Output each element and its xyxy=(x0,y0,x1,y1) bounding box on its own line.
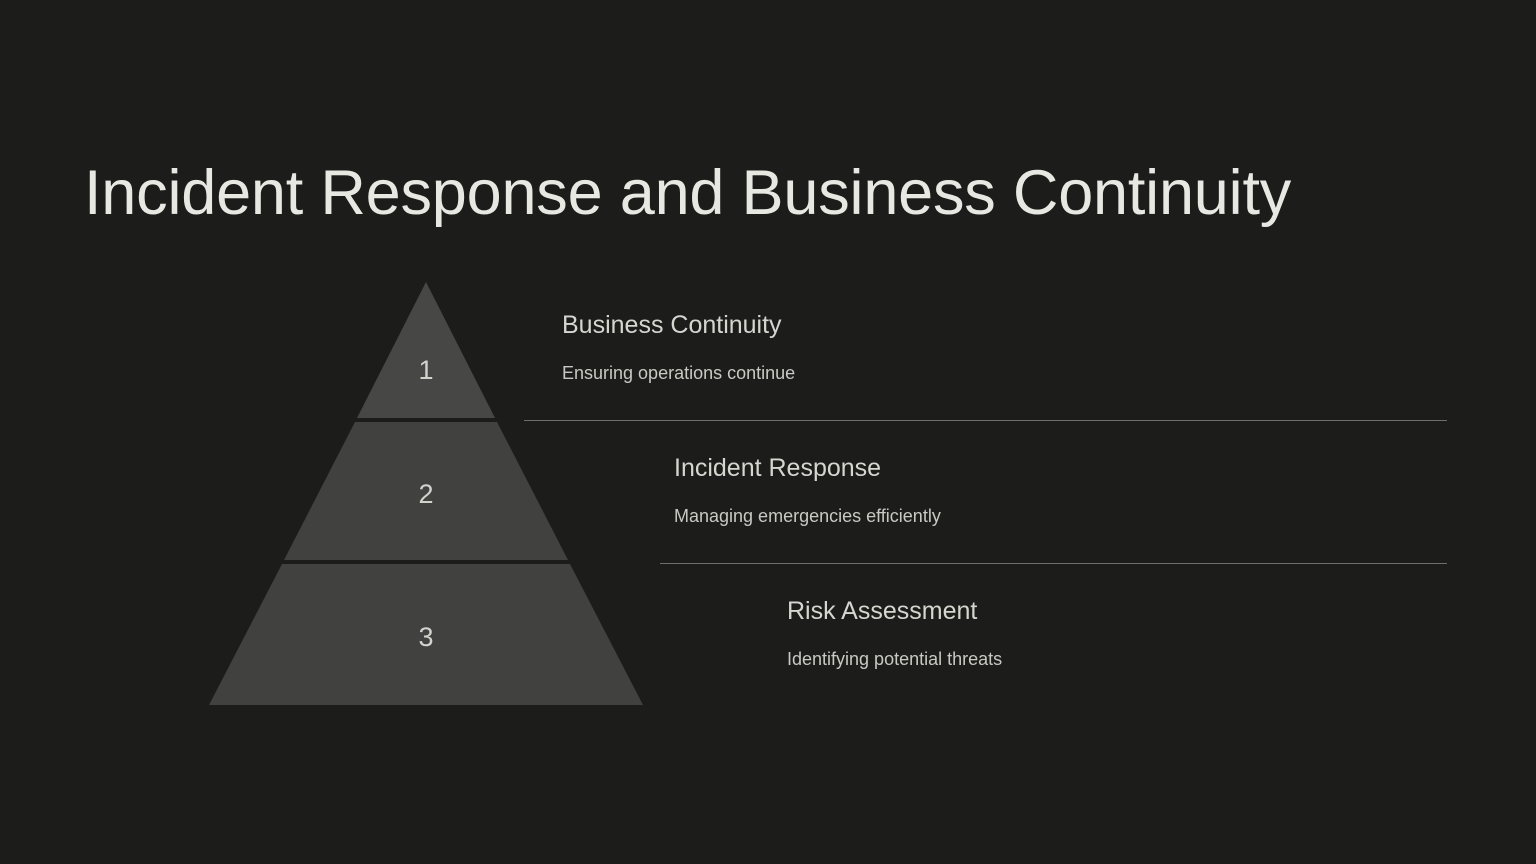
pyramid-tier-2-heading: Incident Response xyxy=(674,453,1534,483)
pyramid-tier-3-number: 3 xyxy=(386,624,466,651)
pyramid-tier-3-heading: Risk Assessment xyxy=(787,596,1536,626)
pyramid-tier-1[interactable] xyxy=(357,282,495,418)
pyramid-tier-2-number: 2 xyxy=(386,481,466,508)
tier-separator-rule-2 xyxy=(660,563,1447,564)
pyramid-tier-3-subtitle: Identifying potential threats xyxy=(787,648,1536,670)
pyramid-tier-1-heading: Business Continuity xyxy=(562,310,1422,340)
pyramid-tier-3-text: Risk Assessment Identifying potential th… xyxy=(787,596,1536,670)
pyramid-tier-1-subtitle: Ensuring operations continue xyxy=(562,362,1422,384)
slide-canvas: Incident Response and Business Continuit… xyxy=(0,0,1536,864)
tier-separator-rule-1 xyxy=(524,420,1447,421)
pyramid-tier-2-subtitle: Managing emergencies efficiently xyxy=(674,505,1534,527)
pyramid-tier-1-text: Business Continuity Ensuring operations … xyxy=(562,310,1422,384)
pyramid-tier-2-text: Incident Response Managing emergencies e… xyxy=(674,453,1534,527)
pyramid-tier-1-number: 1 xyxy=(386,357,466,384)
pyramid-diagram: 1 2 3 Business Continuity Ensuring opera… xyxy=(0,0,1536,864)
